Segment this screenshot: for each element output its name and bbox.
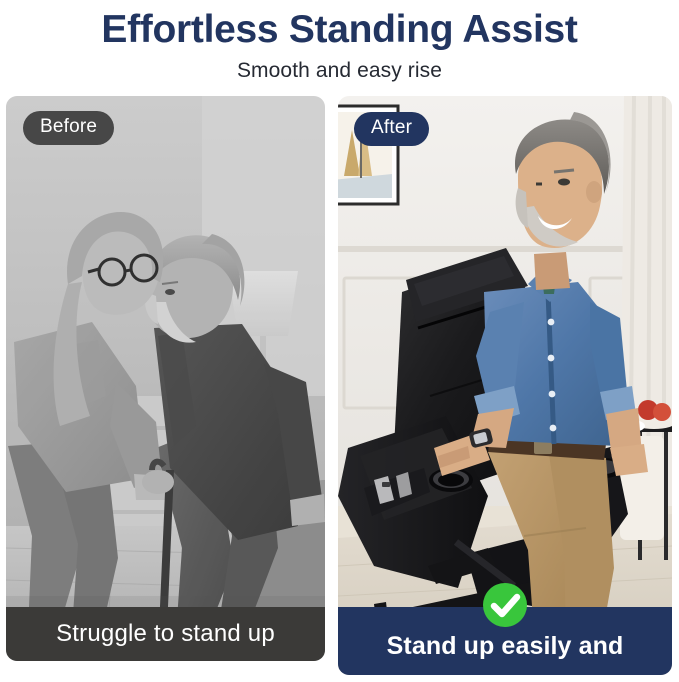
after-badge: After <box>354 112 429 146</box>
header: Effortless Standing Assist Smooth and ea… <box>0 0 679 84</box>
before-photo <box>6 96 325 661</box>
check-circle-icon <box>481 581 529 629</box>
after-panel: After Stand up easily and smoothly <box>338 96 672 675</box>
page-title: Effortless Standing Assist <box>0 4 679 53</box>
before-panel: Before Struggle to stand up <box>6 96 325 661</box>
before-badge: Before <box>23 111 114 145</box>
before-caption: Struggle to stand up <box>6 607 325 661</box>
page-subtitle: Smooth and easy rise <box>0 53 679 84</box>
before-after-comparison: Before Struggle to stand up <box>0 96 679 682</box>
